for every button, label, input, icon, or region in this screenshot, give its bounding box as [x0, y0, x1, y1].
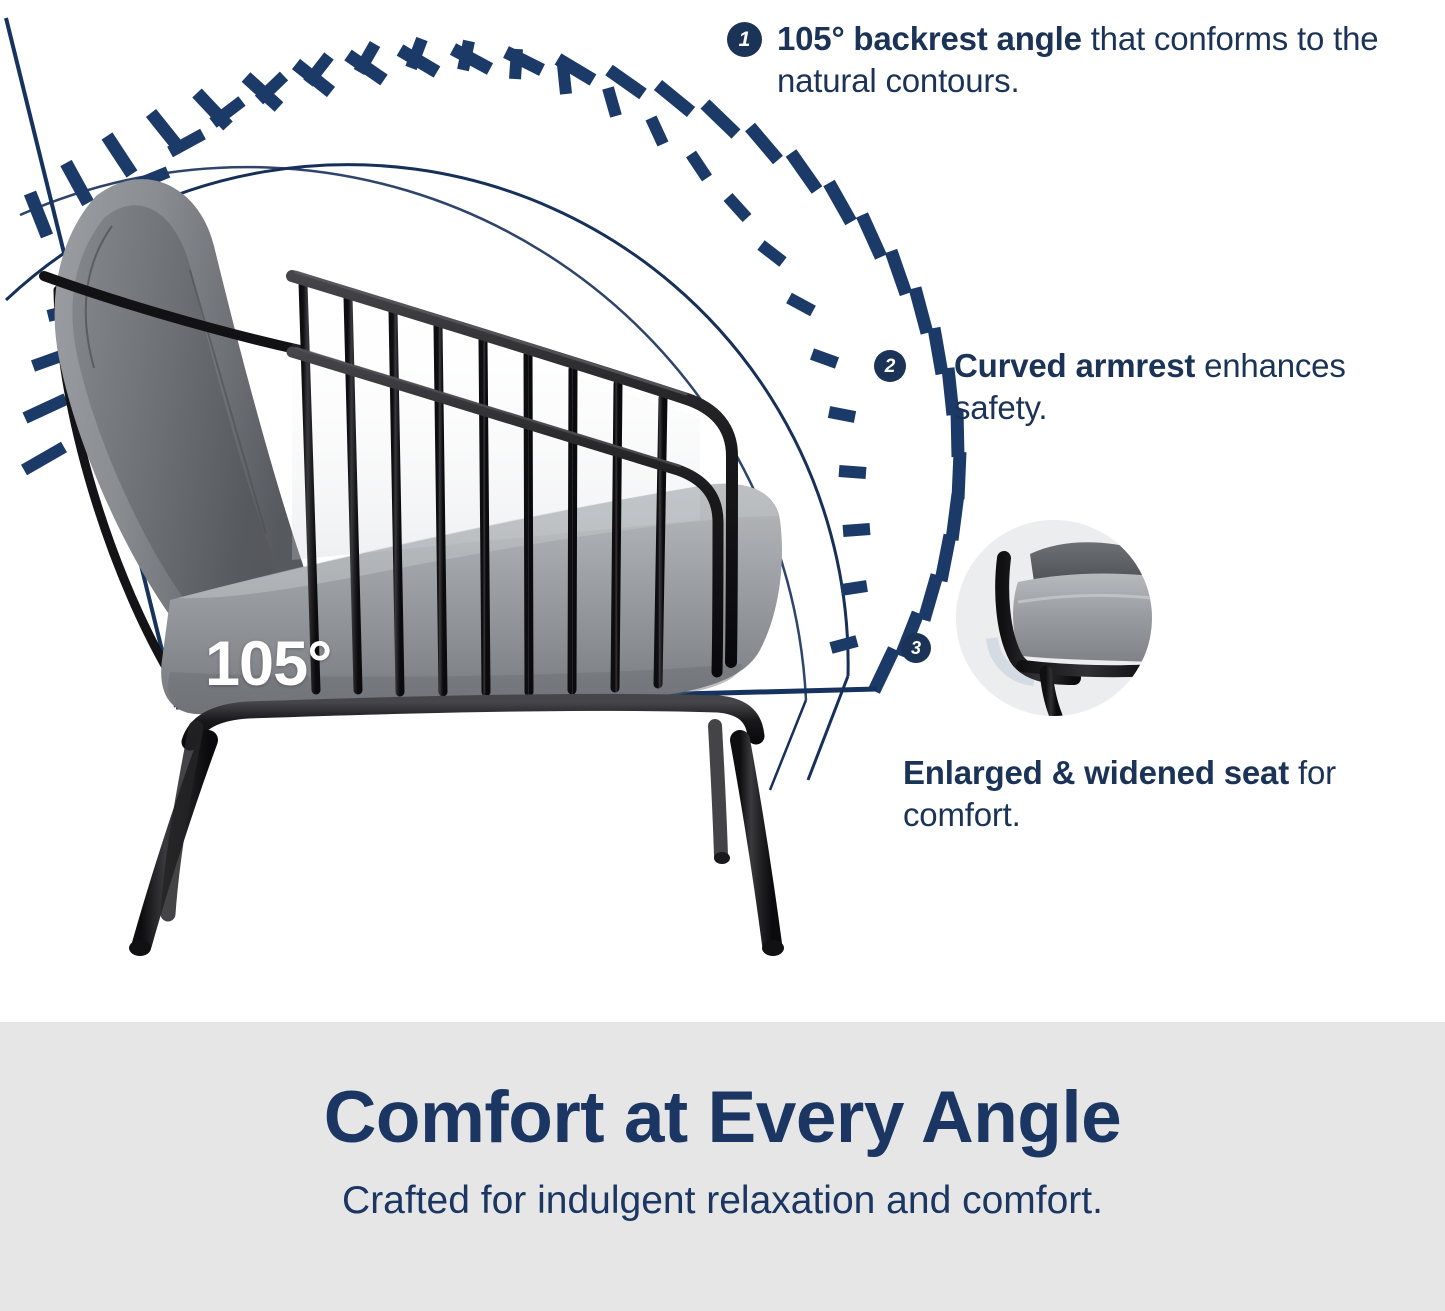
banner-title: Comfort at Every Angle — [0, 1022, 1445, 1157]
inset-seat-cushion — [1013, 574, 1152, 662]
chair-rear-right-leg — [715, 726, 721, 856]
callout-1: 1 105° backrest angle that conforms to t… — [727, 18, 1417, 102]
chair-seat-frame — [190, 702, 756, 742]
chair-foot-right — [762, 940, 784, 956]
callout-2-badge: 2 — [874, 350, 906, 382]
callout-2-text: Curved armrest enhances safety. — [954, 345, 1419, 429]
callout-3-badge: 3 — [901, 633, 931, 663]
callout-3-text: Enlarged & widened seat for comfort. — [903, 752, 1383, 836]
callout-3-bold: Enlarged & widened seat — [903, 754, 1289, 791]
chair-foot-rear-right — [714, 852, 730, 864]
callout-1-bold: 105° backrest angle — [777, 20, 1082, 57]
callout-2-bold: Curved armrest — [954, 347, 1195, 384]
callout-2: 2 Curved armrest enhances safety. — [874, 345, 1419, 429]
callout-1-text: 105° backrest angle that conforms to the… — [777, 18, 1417, 102]
bottom-banner: Comfort at Every Angle Crafted for indul… — [0, 1022, 1445, 1311]
chair-foot-left — [129, 940, 151, 956]
chair-diagram-svg — [0, 0, 1445, 1022]
chair-front-right-leg — [740, 740, 772, 944]
seat-closeup-inset — [956, 520, 1152, 716]
chair-illustration — [44, 179, 784, 956]
angle-value-label: 105° — [205, 633, 331, 696]
chair-rear-left-leg — [168, 728, 196, 914]
banner-subtitle: Crafted for indulgent relaxation and com… — [0, 1157, 1445, 1224]
callout-1-badge: 1 — [727, 22, 762, 57]
infographic-page: 105° — [0, 0, 1445, 1311]
seat-closeup-svg — [956, 520, 1152, 716]
arc-tail-inner — [770, 700, 806, 790]
product-illustration-area: 105° — [0, 0, 1445, 1022]
